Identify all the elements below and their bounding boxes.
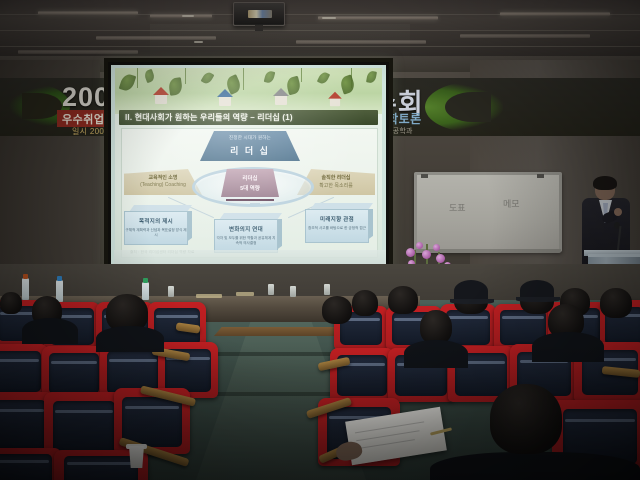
leaf-icon — [366, 70, 377, 83]
slide-title-bar: II. 현대사회가 원하는 우리들의 역량 – 리더십 (1) — [119, 110, 378, 125]
audience-shoulders — [22, 318, 78, 344]
slide-core-line2: 5대 역량 — [221, 184, 279, 192]
slide-box-3: 미래지향 관점 창조적 사고를 바탕으로 한 긍정적 접근 — [305, 203, 373, 241]
aisle-step — [206, 352, 350, 356]
slide-center-subtitle: 진정한 시대가 원하는 — [200, 135, 300, 141]
beverage-can — [168, 286, 174, 297]
audience-member — [600, 288, 632, 318]
foreground-audience-member — [490, 384, 562, 454]
beverage-can — [268, 284, 274, 295]
beverage-can — [324, 284, 330, 295]
presenter-hand — [614, 208, 622, 216]
slide-center-banner: 진정한 시대가 원하는 리 더 십 — [200, 131, 300, 161]
slide-wing-left-title: 교육적인 소명 — [124, 174, 202, 181]
leaf-icon — [317, 71, 330, 86]
slide-core-block: 리더십 5대 역량 — [221, 169, 279, 197]
ceiling-light-fixture — [318, 16, 438, 20]
slide-center-heading: 리 더 십 — [200, 144, 300, 157]
orchid-flower-icon — [433, 244, 440, 251]
slide-core-line1: 리더십 — [221, 174, 279, 182]
slide-box-1-title: 목적지의 제시 — [125, 217, 187, 225]
whiteboard-clip — [421, 174, 428, 178]
slide-diagram: 교육적인 소명 (Teaching) Coaching 솔직한 리더십 확고한 … — [121, 128, 378, 258]
leaf-icon — [264, 70, 276, 84]
lecture-hall-photo: 200 수회 우수취업 공전학토론 일시 2009. 학교 환경공학과 — [0, 0, 640, 480]
slide-box-3-desc: 창조적 사고를 바탕으로 한 긍정적 접근 — [306, 226, 368, 231]
projection-screen: II. 현대사회가 원하는 우리들의 역량 – 리더십 (1) 교육적인 소명 … — [111, 65, 386, 265]
diagram-connector — [250, 203, 260, 204]
projector-lens-icon — [248, 10, 272, 18]
house-icon — [275, 95, 287, 105]
slide-wing-left-subtitle: (Teaching) Coaching — [124, 182, 202, 188]
audience-member — [420, 310, 452, 344]
ceiling-panel-line — [0, 46, 640, 47]
baseball-cap — [520, 280, 554, 300]
whiteboard-mark: 도표 — [449, 201, 466, 214]
light-specular — [194, 41, 203, 43]
aisle-wood-trim — [214, 327, 342, 336]
leaf-icon — [143, 69, 156, 83]
audience-shoulders — [404, 340, 468, 368]
slide-box-2: 변화의지 연대 각자 및 모두를 위한 역할과 공유체계 지속적 의사결정 — [214, 213, 282, 251]
orchid-flower-icon — [436, 254, 445, 263]
orchid-flower-icon — [416, 242, 423, 249]
house-icon — [219, 96, 231, 106]
light-specular — [182, 15, 194, 17]
banner-year-left: 200 — [62, 82, 110, 113]
projector-mount — [255, 25, 263, 31]
ceiling-light-fixture — [38, 11, 138, 15]
slide-box-1: 목적지의 제시 구체적 계획력과 신념과 목표설정 방식 제시 — [124, 205, 192, 243]
slide-box-2-title: 변화의지 연대 — [215, 225, 277, 233]
presenter-hair — [593, 176, 617, 190]
audience-member — [388, 286, 418, 314]
ceiling-light-fixture — [500, 12, 610, 16]
orchid-flower-icon — [422, 250, 431, 259]
leaf-icon — [168, 77, 183, 96]
leaf-icon — [201, 71, 215, 86]
ceiling-light-fixture — [150, 14, 212, 18]
foreground-person-shoulders — [430, 452, 640, 480]
slide-wing-left: 교육적인 소명 (Teaching) Coaching — [124, 169, 202, 195]
audience-shoulders — [96, 326, 164, 352]
audience-member — [0, 292, 22, 314]
seat — [0, 448, 62, 480]
ceiling-panel-line — [0, 30, 640, 31]
audience-shoulders — [532, 332, 604, 362]
slide-title: II. 현대사회가 원하는 우리들의 역량 – 리더십 (1) — [119, 112, 293, 123]
house-icon — [155, 94, 167, 104]
beverage-can — [290, 286, 296, 297]
slide-box-2-desc: 각자 및 모두를 위한 역할과 공유체계 지속적 의사결정 — [215, 236, 277, 247]
banner-red-label: 우수취업 — [57, 110, 109, 127]
seat — [0, 344, 48, 398]
projection-screen-frame: II. 현대사회가 원하는 우리들의 역량 – 리더십 (1) 교육적인 소명 … — [104, 58, 393, 272]
orchid-flower-icon — [406, 248, 415, 257]
ceiling-light-fixture — [18, 50, 138, 54]
ceiling-light-fixture — [460, 34, 590, 38]
slide-header-graphic — [115, 68, 382, 114]
papers-on-table — [196, 294, 222, 298]
slide-box-1-desc: 구체적 계획력과 신념과 목표설정 방식 제시 — [125, 228, 187, 239]
leaf-icon — [119, 72, 137, 92]
coffee-cup — [128, 446, 145, 468]
presentation-slide: II. 현대사회가 원하는 우리들의 역량 – 리더십 (1) 교육적인 소명 … — [115, 68, 382, 262]
slide-box-3-title: 미래지향 관점 — [306, 215, 368, 223]
house-icon — [330, 98, 340, 107]
slide-footer-note: 출처 : 한국 리더십센터 리더십 역량 자료 — [130, 250, 370, 255]
seat — [330, 348, 394, 402]
water-bottle — [22, 278, 29, 300]
baseball-cap — [454, 280, 488, 302]
ceiling-light-fixture — [296, 40, 426, 44]
slide-core-underline — [226, 199, 274, 201]
light-specular — [322, 17, 336, 19]
whiteboard-clip — [537, 174, 544, 178]
audience-member — [352, 290, 378, 316]
audience-member — [322, 296, 352, 324]
papers-on-table — [236, 292, 254, 296]
whiteboard-mark: 메모 — [503, 197, 520, 210]
banner-logo-right-icon — [425, 82, 503, 132]
ceiling-light-fixture — [96, 36, 216, 40]
projector — [233, 2, 285, 26]
